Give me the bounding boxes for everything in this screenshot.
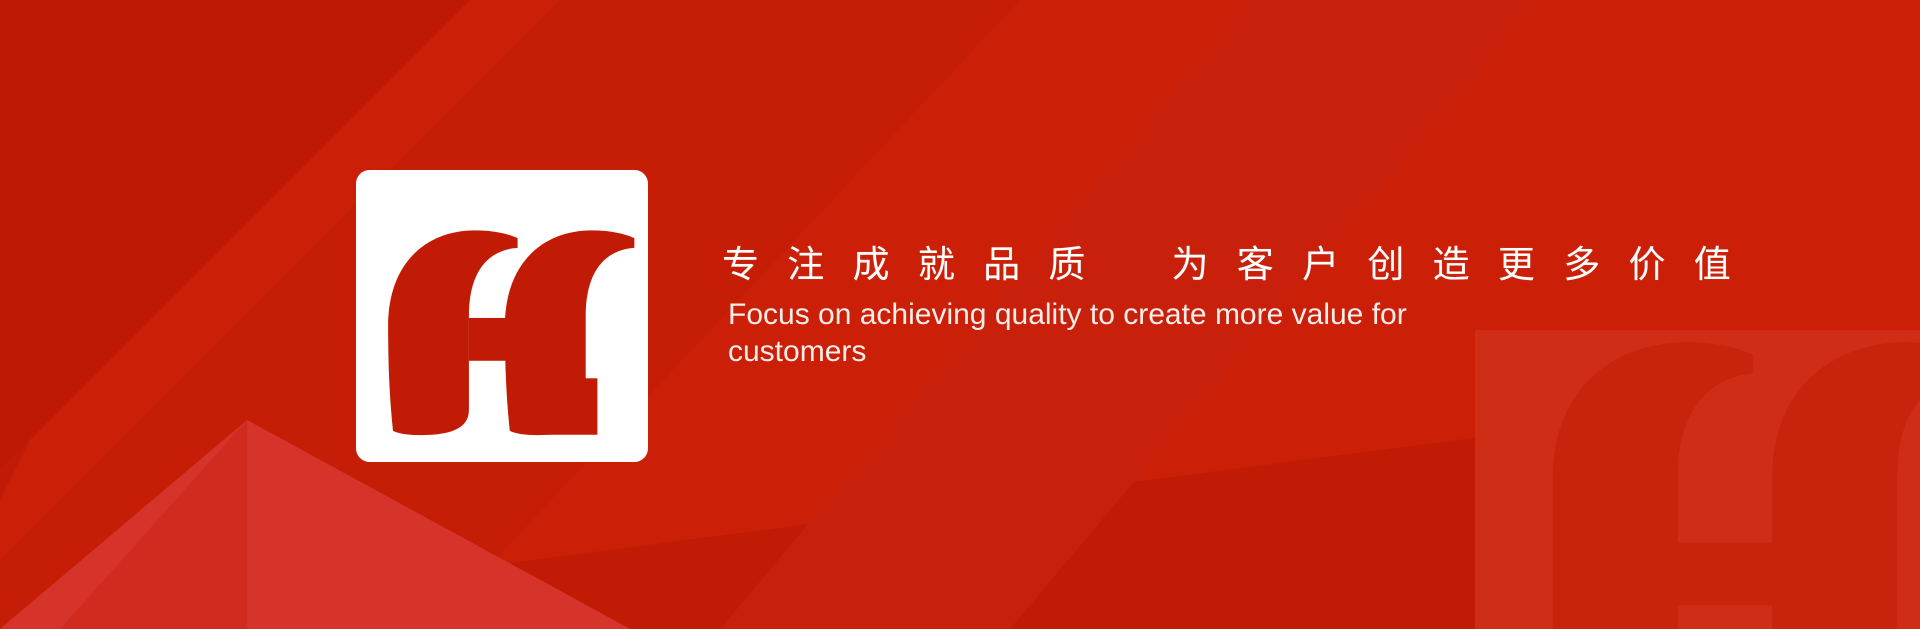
banner-content: 专 注 成 就 品 质 为 客 户 创 造 更 多 价 值 Focus on a…: [0, 0, 1920, 629]
slogan-english: Focus on achieving quality to create mor…: [728, 297, 1508, 370]
company-logo: [356, 170, 648, 462]
logo-crossbar: [469, 318, 514, 361]
logo-foot-block: [547, 378, 598, 434]
hero-banner: 专 注 成 就 品 质 为 客 户 创 造 更 多 价 值 Focus on a…: [0, 0, 1920, 629]
h-monogram-icon: [356, 170, 648, 462]
slogan-english-line1: Focus on achieving quality to create mor…: [728, 298, 1363, 331]
slogan-chinese: 专 注 成 就 品 质 为 客 户 创 造 更 多 价 值: [722, 242, 1622, 287]
slogan-block: 专 注 成 就 品 质 为 客 户 创 造 更 多 价 值 Focus on a…: [722, 242, 1622, 370]
